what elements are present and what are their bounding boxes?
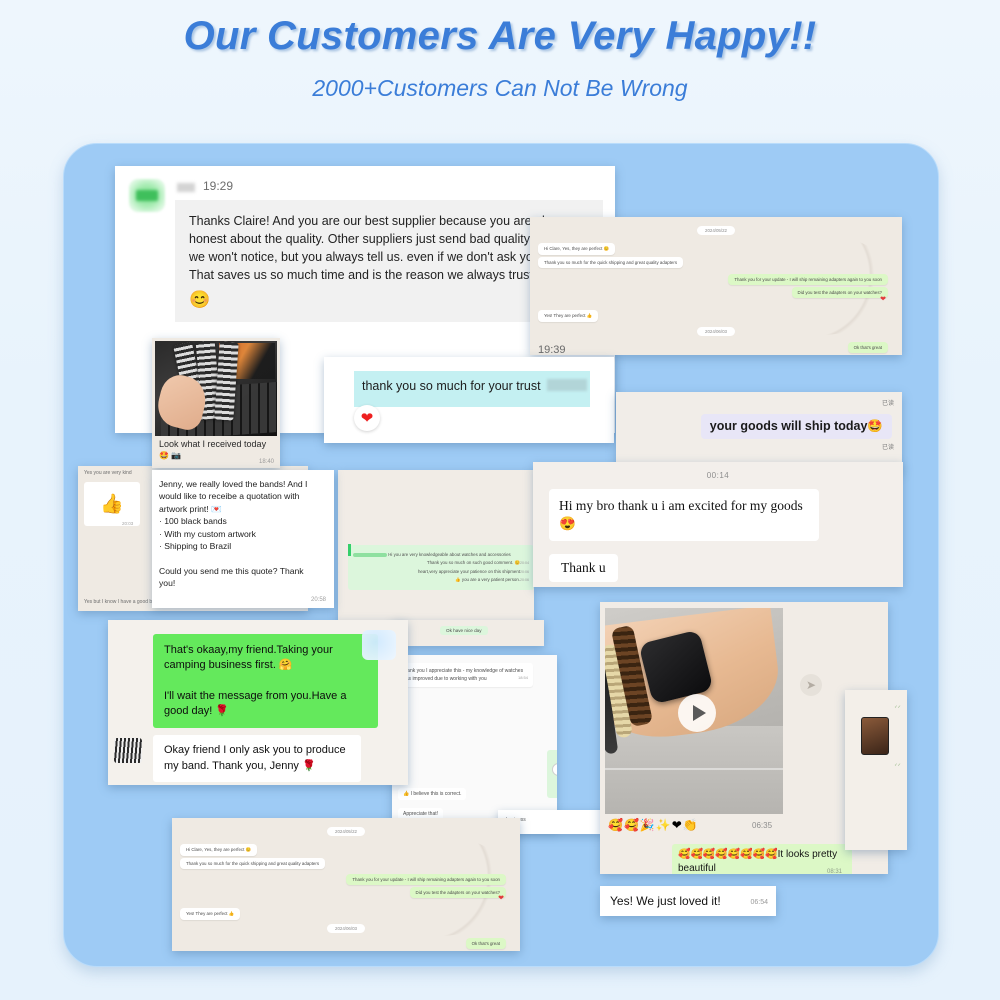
chat-line-in-2-b: Thank you so much for the quick shipping… bbox=[180, 858, 325, 869]
read-receipt-bottom: 已读 bbox=[882, 442, 894, 451]
page-title: Our Customers Are Very Happy!! bbox=[0, 14, 1000, 59]
video-reactions: 🥰🥰🎉✨❤👏 bbox=[608, 818, 699, 832]
patient-line-1: Thank you so much on such good comment. … bbox=[353, 560, 529, 566]
chat-line-out-1-b: Thank you for your update - I will ship … bbox=[346, 874, 506, 885]
bro-message-1: Hi my bro thank u i am excited for my go… bbox=[549, 489, 819, 541]
date-pill-bottom: 2024/06/03 bbox=[697, 327, 735, 336]
patient-person-card: ❮ Hi you are very knowledgeable about wa… bbox=[338, 470, 534, 630]
bro-thanks-card: 00:14 Hi my bro thank u i am excited for… bbox=[533, 462, 903, 587]
heart-reaction-icon: ❤ bbox=[880, 295, 886, 303]
bro-message-2: Thank u bbox=[549, 554, 618, 582]
read-check-1: ✓✓ bbox=[894, 704, 901, 709]
photo-caption: Look what I received today bbox=[159, 439, 266, 449]
redacted-name bbox=[353, 553, 387, 557]
blurred-green-avatar-icon bbox=[129, 179, 165, 212]
outgoing-green-bubble: That's okaay,my friend.Taking your campi… bbox=[153, 634, 378, 728]
knowledge-message-1: thank you I appreciate this - my knowled… bbox=[398, 663, 533, 687]
blurred-avatar-icon bbox=[114, 738, 142, 763]
read-receipt-top: 已读 bbox=[882, 398, 894, 407]
thumbs-time: 20:03 bbox=[122, 521, 133, 526]
date-pill-top-2: 2024/05/22 bbox=[327, 827, 365, 836]
left-arrow-icon: ❮ bbox=[338, 562, 340, 573]
line-top: Yes you are very kind bbox=[84, 470, 132, 476]
quotation-message: Jenny, we really loved the bands! And I … bbox=[159, 478, 319, 589]
sticker-icon bbox=[362, 630, 396, 660]
green-compliment-message: 🥰🥰🥰🥰🥰🥰🥰🥰It looks pretty beautiful 08:31 bbox=[672, 844, 852, 874]
play-button-icon[interactable] bbox=[678, 694, 716, 732]
adapters-conversation-card-top: 2024/05/22 Hi Clare, Yes, they are perfe… bbox=[530, 217, 902, 355]
chat-line-in-3: Yes! They are perfect 👍 bbox=[538, 310, 598, 322]
heart-reaction-icon-b: ❤ bbox=[498, 894, 504, 902]
trust-message: thank you so much for your trust bbox=[362, 379, 541, 393]
overlay-timestamp: 19:39 bbox=[538, 344, 566, 355]
watch-knowledge-card: thank you I appreciate this - my knowled… bbox=[392, 655, 557, 830]
heart-reaction-icon: ❤ bbox=[354, 405, 380, 431]
hand-holding-bands-photo-icon bbox=[155, 341, 277, 436]
patient-line-0: Hi you are very knowledgeable about watc… bbox=[353, 552, 529, 557]
bands-quotation-card: Jenny, we really loved the bands! And I … bbox=[152, 470, 334, 608]
chat-line-out-3-b: Ok that's great bbox=[466, 938, 506, 949]
green-message-time: 08:31 bbox=[827, 868, 842, 874]
quotation-time: 20:58 bbox=[311, 597, 326, 603]
watermark-2 bbox=[364, 836, 514, 936]
watermark bbox=[746, 235, 896, 335]
chat-line-in-1: Hi Clare, Yes, they are perfect 😊 bbox=[538, 243, 615, 255]
camping-business-card: That's okaay,my friend.Taking your campi… bbox=[108, 620, 408, 785]
adapters-chat-2: 2024/05/22 Hi Clare, Yes, they are perfe… bbox=[172, 818, 520, 951]
photo-received-card: Look what I received today 🤩 📷 18:40 bbox=[152, 338, 280, 468]
date-pill-bottom-2: 2024/06/03 bbox=[327, 924, 365, 933]
smile-emoji-icon: 😊 bbox=[189, 291, 589, 308]
chat-line-in-3-b: Yes! They are perfect 👍 bbox=[180, 908, 240, 920]
chat-line-out-2: Did you test the adapters on your watche… bbox=[792, 287, 888, 298]
floor bbox=[605, 726, 783, 814]
patient-line-2: heart,very appreciate your patience on t… bbox=[353, 569, 529, 574]
message-text: Thanks Claire! And you are our best supp… bbox=[189, 214, 586, 282]
knowledge-message-2: 👍 I believe this is correct. bbox=[398, 788, 466, 800]
read-check-2: ✓✓ bbox=[894, 762, 901, 767]
chat-line-out-2-b: Did you test the adapters on your watche… bbox=[410, 887, 506, 898]
thumbs-up-icon: 👍 bbox=[84, 482, 140, 526]
incoming-white-bubble: Okay friend I only ask you to produce my… bbox=[153, 735, 361, 782]
chat-line-in-1-b: Hi Clare, Yes, they are perfect 😊 bbox=[180, 844, 257, 856]
forward-arrow-icon[interactable]: ➤ bbox=[800, 674, 822, 696]
video-time: 06:35 bbox=[752, 821, 772, 830]
ship-today-card: 已读 your goods will ship today🤩 已读 bbox=[616, 392, 902, 472]
blurred-name bbox=[177, 183, 195, 192]
page-header: Our Customers Are Very Happy!! 2000+Cust… bbox=[0, 14, 1000, 102]
photo-reactions: 🤩 📷 bbox=[159, 451, 181, 460]
thank-you-trust-card: thank you so much for your trust ❤ bbox=[324, 357, 614, 443]
loved-it-message: Yes! We just loved it! bbox=[610, 894, 721, 908]
reply-bar bbox=[348, 544, 351, 556]
chat-line-out-1: Thank you for your update - I will ship … bbox=[728, 274, 888, 285]
chat-line-in-2: Thank you so much for the quick shipping… bbox=[538, 257, 683, 268]
photo-time: 18:40 bbox=[259, 459, 274, 465]
adapters-conversation-card-bottom: 2024/05/22 Hi Clare, Yes, they are perfe… bbox=[172, 818, 520, 951]
nice-day-card: Ok have nice day bbox=[392, 620, 544, 646]
date-pill-top: 2024/05/22 bbox=[697, 226, 735, 235]
chat-timestamp: 00:14 bbox=[707, 471, 730, 480]
message-time: 19:29 bbox=[203, 179, 233, 193]
page-subtitle: 2000+Customers Can Not Be Wrong bbox=[0, 75, 1000, 102]
loved-it-time: 06:54 bbox=[750, 899, 768, 906]
patient-line-3: 👍 you are a very patient person.20:06 bbox=[353, 577, 529, 583]
chat-line-out-3: Ok that's great bbox=[848, 342, 888, 353]
adapters-chat: 2024/05/22 Hi Clare, Yes, they are perfe… bbox=[530, 217, 902, 355]
loved-it-card: Yes! We just loved it! 06:54 ▽ bbox=[600, 886, 776, 916]
ship-today-message: your goods will ship today🤩 bbox=[701, 414, 892, 439]
right-thin-strip-card: ✓✓ ✓✓ bbox=[845, 690, 907, 850]
green-group: Hi you are very knowledgeable about watc… bbox=[348, 545, 534, 590]
redacted-block bbox=[547, 379, 587, 391]
floor-line bbox=[605, 768, 783, 770]
nice-day-message: Ok have nice day bbox=[440, 626, 488, 635]
thumbnail-photo-icon bbox=[861, 717, 889, 755]
